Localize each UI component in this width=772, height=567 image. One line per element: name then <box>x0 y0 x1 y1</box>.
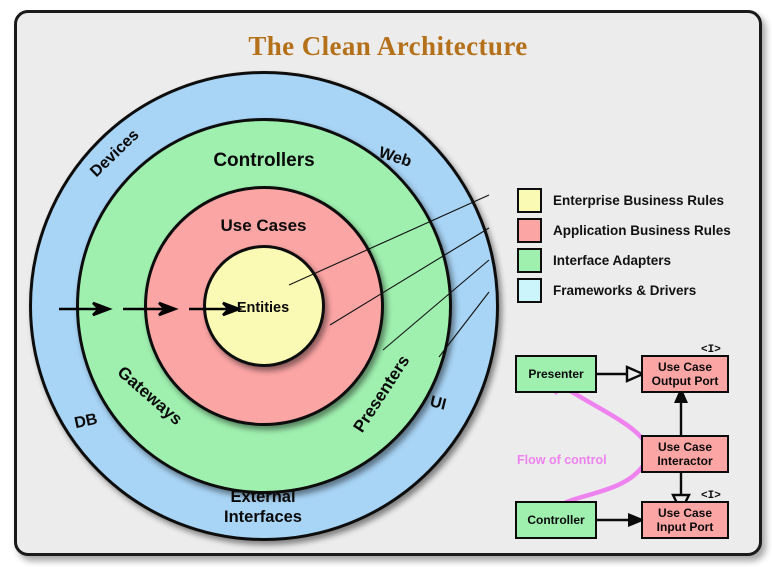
legend-item: Frameworks & Drivers <box>517 275 731 305</box>
ring-label-controllers: Controllers <box>149 151 379 172</box>
interface-marker-output-port: <I> <box>701 344 721 356</box>
ring-label-external-interfaces: External Interfaces <box>183 487 343 527</box>
legend-swatch-frameworks <box>517 278 542 303</box>
external-interfaces-line-1: External <box>183 487 343 507</box>
external-interfaces-line-2: Interfaces <box>183 507 343 527</box>
legend-swatch-enterprise <box>517 188 542 213</box>
legend-item: Interface Adapters <box>517 245 731 275</box>
output-port-line-1: Use Case <box>658 360 712 374</box>
legend-item: Enterprise Business Rules <box>517 185 731 215</box>
interface-marker-input-port: <I> <box>701 490 721 502</box>
ring-label-use-cases: Use Cases <box>161 217 366 235</box>
legend-label-adapters: Interface Adapters <box>553 253 671 268</box>
legend-swatch-adapters <box>517 248 542 273</box>
input-port-line-1: Use Case <box>658 506 712 520</box>
legend-swatch-application <box>517 218 542 243</box>
flow-node-presenter-label: Presenter <box>528 367 583 381</box>
legend-item: Application Business Rules <box>517 215 731 245</box>
flow-node-presenter[interactable]: Presenter <box>515 355 597 393</box>
page-title: The Clean Architecture <box>17 31 759 62</box>
diagram-frame: The Clean Architecture Controllers Use C… <box>14 10 762 556</box>
legend-label-enterprise: Enterprise Business Rules <box>553 193 724 208</box>
flow-of-control-label: Flow of control <box>517 453 607 467</box>
legend: Enterprise Business Rules Application Bu… <box>517 185 731 305</box>
input-port-line-2: Input Port <box>657 520 714 534</box>
clean-architecture-circles: Controllers Use Cases Entities Devices W… <box>23 65 503 545</box>
interactor-line-2: Interactor <box>657 454 712 468</box>
flow-node-controller-label: Controller <box>527 513 584 527</box>
legend-label-frameworks: Frameworks & Drivers <box>553 283 696 298</box>
flow-node-controller[interactable]: Controller <box>515 501 597 539</box>
flow-node-use-case-interactor[interactable]: Use Case Interactor <box>641 435 729 473</box>
legend-label-application: Application Business Rules <box>553 223 731 238</box>
flow-node-use-case-output-port[interactable]: Use Case Output Port <box>641 355 729 393</box>
flow-node-use-case-input-port[interactable]: Use Case Input Port <box>641 501 729 539</box>
output-port-line-2: Output Port <box>652 374 719 388</box>
flow-of-control-diagram: Presenter Use Case Output Port <I> Use C… <box>495 343 755 543</box>
interactor-line-1: Use Case <box>658 440 712 454</box>
ring-label-entities: Entities <box>209 301 317 317</box>
